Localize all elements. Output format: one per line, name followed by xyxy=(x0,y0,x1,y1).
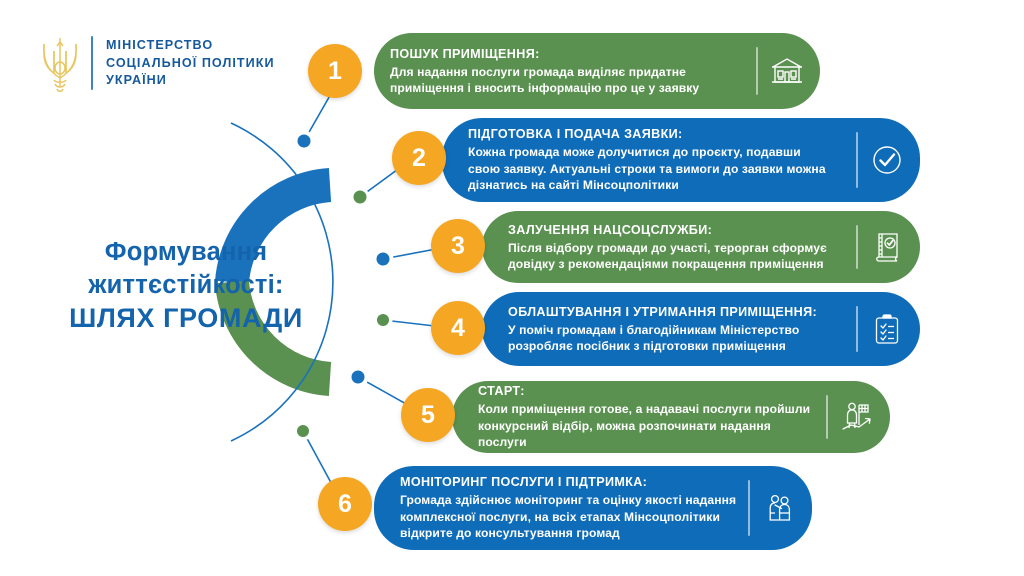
step-card-5-text-line-2: конкурсний відбір, можна розпочинати над… xyxy=(478,418,818,451)
two-people-icon xyxy=(760,493,798,523)
step-card-5-text-line-1: Коли приміщення готове, а надавачі послу… xyxy=(478,401,818,417)
step-number-2[interactable]: 2 xyxy=(392,131,446,185)
clipboard-checklist-icon xyxy=(868,313,906,345)
step-card-2[interactable]: ПІДГОТОВКА І ПОДАЧА ЗАЯВКИ: Кожна громад… xyxy=(442,118,920,202)
center-title-line-2: життєстійкості: xyxy=(36,269,336,302)
step-card-1-text-line-2: приміщення і вносить інформацію про це у… xyxy=(390,80,748,96)
step-card-4-divider xyxy=(856,306,858,352)
step-card-4-text-line-2: розробляє посібник з підготовки приміщен… xyxy=(508,338,848,354)
step-card-2-text-line-3: дізнатись на сайті Мінсоцполітики xyxy=(468,177,848,193)
infographic-canvas: МІНІСТЕРСТВО СОЦІАЛЬНОЇ ПОЛІТИКИ УКРАЇНИ xyxy=(0,0,1024,576)
step-card-3-text-line-2: довідку з рекомендаціями покращення прим… xyxy=(508,256,848,272)
step-card-6-body: МОНІТОРИНГ ПОСЛУГИ І ПІДТРИМКА: Громада … xyxy=(374,474,740,541)
step-card-3-text-line-1: Після відбору громади до участі, терорга… xyxy=(508,240,848,256)
check-circle-icon xyxy=(868,144,906,176)
step-card-1-divider xyxy=(756,47,758,95)
step-card-6-title: МОНІТОРИНГ ПОСЛУГИ І ПІДТРИМКА: xyxy=(400,474,740,491)
node-core-6 xyxy=(297,425,309,437)
step-card-2-title: ПІДГОТОВКА І ПОДАЧА ЗАЯВКИ: xyxy=(468,126,848,143)
step-number-5[interactable]: 5 xyxy=(401,388,455,442)
step-card-3[interactable]: ЗАЛУЧЕННЯ НАЦСОЦСЛУЖБИ: Після відбору гр… xyxy=(482,211,920,283)
step-card-6[interactable]: МОНІТОРИНГ ПОСЛУГИ І ПІДТРИМКА: Громада … xyxy=(374,466,812,550)
step-number-3[interactable]: 3 xyxy=(431,219,485,273)
step-card-3-divider xyxy=(856,225,858,269)
step-card-4-text-line-1: У поміч громадам і благодійникам Міністе… xyxy=(508,322,848,338)
center-title-line-1: Формування xyxy=(36,236,336,269)
step-card-6-text-line-3: відкрите до консультування громад xyxy=(400,525,740,541)
node-core-5 xyxy=(352,371,365,384)
step-number-4[interactable]: 4 xyxy=(431,301,485,355)
node-core-1 xyxy=(298,135,311,148)
step-number-1[interactable]: 1 xyxy=(308,44,362,98)
step-card-2-divider xyxy=(856,132,858,188)
step-card-6-text-line-2: комплексної послуги, на всіх етапах Мінс… xyxy=(400,509,740,525)
step-card-4[interactable]: ОБЛАШТУВАННЯ І УТРИМАННЯ ПРИМІЩЕННЯ: У п… xyxy=(482,292,920,366)
node-core-4 xyxy=(377,314,389,326)
node-core-2 xyxy=(354,191,367,204)
step-card-2-text-line-1: Кожна громада може долучитися до проєкту… xyxy=(468,144,848,160)
step-card-2-body: ПІДГОТОВКА І ПОДАЧА ЗАЯВКИ: Кожна громад… xyxy=(442,126,848,193)
step-card-6-divider xyxy=(748,480,750,536)
step-card-1-text-line-1: Для надання послуги громада виділяє прид… xyxy=(390,64,748,80)
step-card-3-title: ЗАЛУЧЕННЯ НАЦСОЦСЛУЖБИ: xyxy=(508,222,848,239)
step-card-6-text-line-1: Громада здійснює моніторинг та оцінку як… xyxy=(400,492,740,508)
step-card-5-body: СТАРТ: Коли приміщення готове, а надавач… xyxy=(452,383,818,450)
document-check-icon xyxy=(868,231,906,263)
step-card-5[interactable]: СТАРТ: Коли приміщення готове, а надавач… xyxy=(452,381,890,453)
house-icon xyxy=(768,56,806,86)
step-card-1-title: ПОШУК ПРИМІЩЕННЯ: xyxy=(390,46,748,63)
step-card-1[interactable]: ПОШУК ПРИМІЩЕННЯ: Для надання послуги гр… xyxy=(374,33,820,109)
step-card-4-body: ОБЛАШТУВАННЯ І УТРИМАННЯ ПРИМІЩЕННЯ: У п… xyxy=(482,304,848,355)
step-card-3-body: ЗАЛУЧЕННЯ НАЦСОЦСЛУЖБИ: Після відбору гр… xyxy=(482,222,848,273)
center-title-line-3: ШЛЯХ ГРОМАДИ xyxy=(36,302,336,335)
step-number-6[interactable]: 6 xyxy=(318,477,372,531)
center-title: Формування життєстійкості: ШЛЯХ ГРОМАДИ xyxy=(36,236,336,335)
step-card-4-title: ОБЛАШТУВАННЯ І УТРИМАННЯ ПРИМІЩЕННЯ: xyxy=(508,304,848,321)
step-card-1-body: ПОШУК ПРИМІЩЕННЯ: Для надання послуги гр… xyxy=(374,46,748,97)
person-flag-arrow-icon xyxy=(838,401,876,433)
node-core-3 xyxy=(377,253,390,266)
step-card-2-text-line-2: свою заявку. Актуальні строки та вимоги … xyxy=(468,161,848,177)
step-card-5-title: СТАРТ: xyxy=(478,383,818,400)
step-card-5-divider xyxy=(826,395,828,439)
